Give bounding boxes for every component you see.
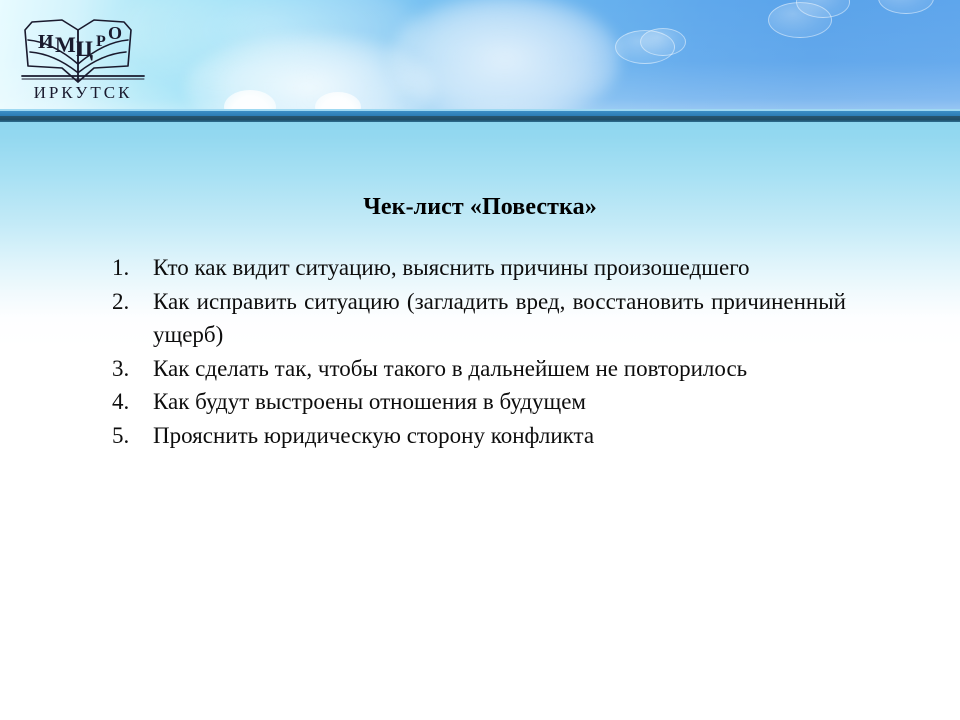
logo-letter-o: О bbox=[108, 23, 122, 43]
list-item: 3. Как сделать так, чтобы такого в дальн… bbox=[112, 352, 846, 386]
list-item-number: 3. bbox=[112, 352, 153, 386]
logo-city-wordmark: ИРКУТСК bbox=[34, 83, 133, 102]
logo-letter-ts: Ц bbox=[76, 36, 93, 61]
list-item-text: Как сделать так, чтобы такого в дальнейш… bbox=[153, 352, 846, 386]
checklist: 1. Кто как видит ситуацию, выяснить прич… bbox=[112, 251, 846, 452]
imcro-irkutsk-logo: И М Ц Р О ИРКУТСК bbox=[18, 8, 148, 104]
list-item-text: Как будут выстроены отношения в будущем bbox=[153, 385, 846, 419]
list-item-text: Прояснить юридическую сторону конфликта bbox=[153, 419, 846, 453]
list-item-number: 5. bbox=[112, 419, 153, 453]
logo-letter-m: М bbox=[55, 32, 76, 57]
list-item: 2. Как исправить ситуацию (загладить вре… bbox=[112, 285, 846, 352]
slide-canvas: И М Ц Р О ИРКУТСК Чек-лист «Повестка» 1.… bbox=[0, 0, 960, 720]
list-item: 1. Кто как видит ситуацию, выяснить прич… bbox=[112, 251, 846, 285]
list-item-number: 1. bbox=[112, 251, 153, 285]
logo-letter-i: И bbox=[38, 31, 54, 53]
logo-letter-r: Р bbox=[96, 33, 106, 50]
list-item-text: Кто как видит ситуацию, выяснить причины… bbox=[153, 251, 846, 285]
list-item-text: Как исправить ситуацию (загладить вред, … bbox=[153, 285, 846, 352]
page-title: Чек-лист «Повестка» bbox=[0, 194, 960, 221]
list-item: 4. Как будут выстроены отношения в будущ… bbox=[112, 385, 846, 419]
list-item: 5. Прояснить юридическую сторону конфлик… bbox=[112, 419, 846, 453]
list-item-number: 4. bbox=[112, 385, 153, 419]
list-item-number: 2. bbox=[112, 285, 153, 319]
divider-shadow-band bbox=[0, 116, 960, 122]
